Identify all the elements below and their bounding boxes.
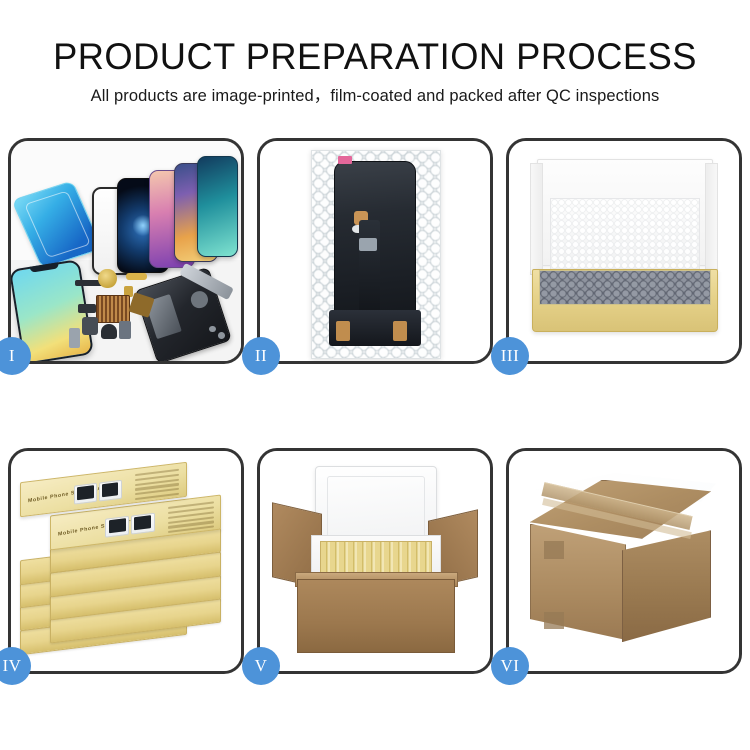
header: PRODUCT PREPARATION PROCESS All products… (0, 0, 750, 106)
phone-artwork-back (130, 513, 154, 535)
foam-sheet-image (550, 198, 699, 275)
teal-phone-screen-image (197, 156, 238, 257)
step-panel-6: VI (506, 448, 742, 674)
page-title: PRODUCT PREPARATION PROCESS (8, 0, 743, 78)
step-panel-5: V (257, 448, 493, 674)
step-image-1 (11, 141, 241, 361)
step-image-6 (509, 451, 739, 671)
feature-checklist-artwork (135, 469, 180, 498)
tape-patch-right (393, 321, 407, 341)
blue-adhesive-frame-image (11, 180, 103, 268)
carton-body-image (297, 579, 455, 654)
step-badge-1: I (0, 337, 31, 375)
vibrator-part-icon (101, 324, 117, 339)
step-image-4: Mobile Phone Spare Parts Mobile Phone Sp… (11, 451, 241, 671)
sim-tray-part-icon (78, 304, 96, 313)
step-panel-2: II (257, 138, 493, 364)
flex-cable-strip (359, 220, 380, 312)
flex-cable-part-icon (126, 273, 147, 280)
driver-chip (359, 238, 377, 251)
product-preparation-infographic: PRODUCT PREPARATION PROCESS All products… (0, 0, 750, 750)
step-badge-3: III (491, 337, 529, 375)
step-badge-4: IV (0, 647, 31, 685)
sensor-part-icon (119, 321, 131, 339)
tape-patch-left (336, 321, 350, 341)
step-panel-1: I (8, 138, 244, 364)
phone-artwork-front (105, 516, 129, 538)
screw-dot-icon (218, 332, 225, 339)
step-badge-5: V (242, 647, 280, 685)
step-panel-3: III (506, 138, 742, 364)
page-subtitle: All products are image-printed，film-coat… (0, 78, 750, 106)
screw-tray-part-icon (96, 295, 130, 323)
retail-box-stack-image: Mobile Phone Spare Parts Mobile Phone Sp… (20, 469, 232, 663)
step-image-5 (260, 451, 490, 671)
feature-checklist-artwork (168, 502, 214, 531)
battery-connector-part-icon (69, 328, 81, 348)
bubble-wrapped-contents-image (539, 270, 711, 305)
step-panel-4: Mobile Phone Spare Parts Mobile Phone Sp… (8, 448, 244, 674)
carton-seal-mark-bottom (544, 612, 565, 630)
carton-side-face (622, 530, 711, 642)
steps-grid: I II (8, 138, 742, 674)
phone-artwork-front (74, 483, 97, 505)
step-image-3 (509, 141, 739, 361)
step-image-2 (260, 141, 490, 361)
box-flap-left (530, 163, 544, 275)
step-badge-2: II (242, 337, 280, 375)
camera-module-part-icon (82, 317, 98, 335)
box-flap-right (705, 163, 719, 275)
step-badge-6: VI (491, 647, 529, 685)
pink-label-sticker (338, 156, 352, 164)
speaker-coil-part-icon (98, 269, 116, 289)
screw-dot-icon (209, 326, 216, 333)
packed-retail-boxes-image (320, 541, 432, 576)
phone-artwork-back (99, 480, 122, 502)
carton-seal-mark-top (544, 541, 565, 559)
